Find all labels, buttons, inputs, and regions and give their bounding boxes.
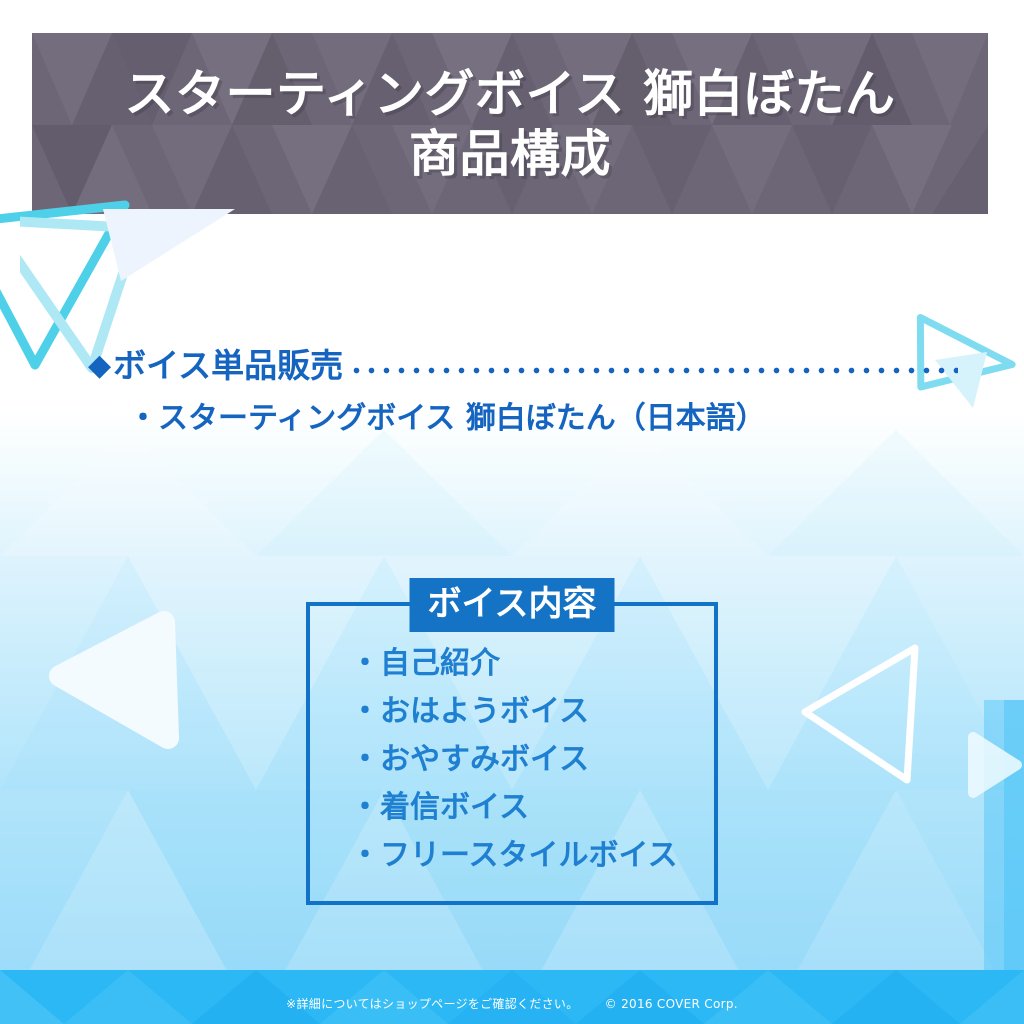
footer-copyright: © 2016 COVER Corp. xyxy=(605,997,738,1011)
dotted-leader-line xyxy=(349,359,958,381)
voice-sale-heading-label: ボイス単品販売 xyxy=(113,345,343,387)
title-line-1: スターティングボイス 獅白ぼたん xyxy=(125,64,896,124)
diamond-bullet-icon: ◆ xyxy=(88,345,111,387)
list-item: ・自己紹介 xyxy=(306,640,718,688)
decor-triangle-outline-white xyxy=(785,640,960,800)
list-item: ・おはようボイス xyxy=(306,688,718,736)
page-title: スターティングボイス 獅白ぼたん 商品構成 xyxy=(32,33,988,214)
voice-content-label: ボイス内容 xyxy=(410,578,615,632)
voice-content-list: ・自己紹介 ・おはようボイス ・おやすみボイス ・着信ボイス ・フリースタイルボ… xyxy=(306,640,718,880)
list-item: ・フリースタイルボイス xyxy=(306,832,718,880)
footer-text: ※詳細についてはショップページをご確認ください。 © 2016 COVER Co… xyxy=(0,996,1024,1012)
voice-sale-item: ・スターティングボイス 獅白ぼたん（日本語） xyxy=(128,399,958,439)
decor-triangle-fill-white-left xyxy=(40,610,230,800)
footer-band: ※詳細についてはショップページをご確認ください。 © 2016 COVER Co… xyxy=(0,970,1024,1024)
voice-sale-heading: ◆ ボイス単品販売 xyxy=(88,345,958,387)
title-line-2: 商品構成 xyxy=(409,124,611,184)
voice-sale-section: ◆ ボイス単品販売 ・スターティングボイス 獅白ぼたん（日本語） xyxy=(88,345,958,439)
decor-triangle-fill-white-right xyxy=(965,725,1024,805)
footer-note: ※詳細についてはショップページをご確認ください。 xyxy=(286,997,578,1011)
list-item: ・着信ボイス xyxy=(306,784,718,832)
title-banner: スターティングボイス 獅白ぼたん 商品構成 xyxy=(32,33,988,214)
list-item: ・おやすみボイス xyxy=(306,736,718,784)
slide-canvas: スターティングボイス 獅白ぼたん 商品構成 ◆ ボイス単品販売 ・スターティング… xyxy=(0,0,1024,1024)
decor-triangle-fill-pale xyxy=(85,205,255,325)
